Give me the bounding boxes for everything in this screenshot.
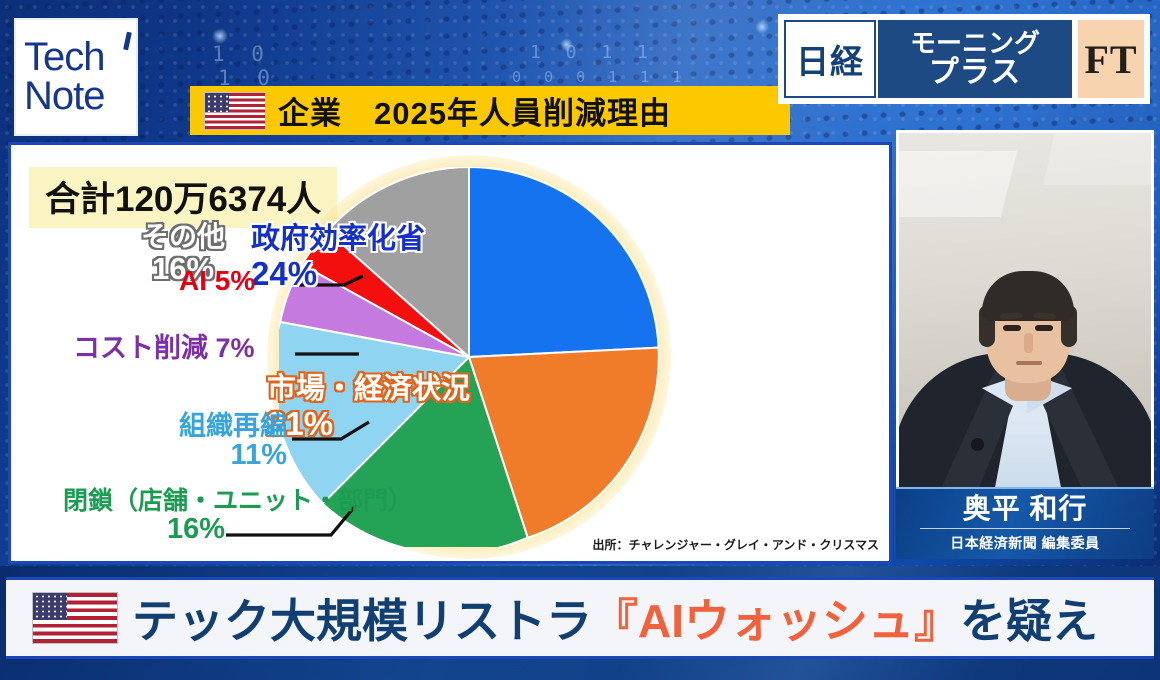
headline-title-bar: 企業 2025年人員削減理由 [190, 86, 790, 135]
us-flag-icon [32, 592, 118, 644]
pie-label-closure: 閉鎖（店舗・ユニット・部門） 16% [63, 489, 225, 545]
lapel-microphone-icon [971, 438, 984, 451]
banner-headline: テック大規模リストラ『AIウォッシュ』を疑え [132, 585, 1098, 651]
program-logo: Tech Note [14, 18, 138, 136]
pie-label-government-name: 政府効率化省 [251, 223, 425, 255]
pie-label-market-name: 市場・経済状況 [267, 373, 470, 405]
pie-label-ai: AI 5% [179, 267, 255, 296]
chart-source: 出所：チャレンジャー・グレイ・アンド・クリスマス [593, 536, 879, 553]
pie-label-government-pct: 24% [251, 257, 425, 291]
program-logo-line1: Tech [24, 38, 136, 77]
binary-decor: 0 0 0 1 1 1 [512, 68, 688, 86]
binary-decor: 1 0 1 1 [530, 42, 655, 63]
network-logo-block: 日経 モーニング プラス FT [778, 14, 1150, 104]
banner-text-highlight: 『AIウォッシュ』 [592, 595, 960, 647]
program-logo-text1: Tech [24, 35, 105, 79]
guest-video-inset [896, 130, 1154, 490]
page-title: 企業 2025年人員削減理由 [278, 88, 671, 133]
pie-label-closure-pct: 16% [63, 515, 225, 545]
binary-decor: 1 0 [212, 42, 271, 66]
pie-label-other-name: その他 [141, 221, 225, 252]
us-flag-icon [204, 92, 266, 130]
bottom-banner: テック大規模リストラ『AIウォッシュ』を疑え [6, 577, 1154, 659]
pie-label-market: 市場・経済状況 21% [267, 375, 470, 441]
nameplate-divider [920, 528, 1130, 529]
apostrophe-mark [123, 31, 132, 50]
pie-label-reorg: 組織再編 11% [97, 413, 287, 471]
nose [1024, 333, 1033, 353]
pie-label-cost: コスト削減 7% [73, 335, 255, 363]
hair [982, 271, 1074, 321]
eye-left [1003, 325, 1021, 331]
morning-plus-line1: モーニング [910, 30, 1040, 56]
banner-text-part2: を疑え [960, 595, 1098, 647]
nikkei-logo: 日経 [784, 20, 876, 98]
glow-dot [755, 20, 769, 34]
morning-plus-logo: モーニング プラス [878, 20, 1072, 98]
pie-label-reorg-name: 組織再編 [179, 411, 287, 441]
banner-text-part1: テック大規模リストラ [132, 595, 592, 647]
guest-photo [899, 133, 1151, 487]
mouth [1016, 361, 1042, 365]
pie-label-government: 政府効率化省 24% [251, 225, 425, 291]
guest-affiliation: 日本経済新聞 編集委員 [950, 533, 1099, 553]
guest-nameplate: 奥平 和行 日本経済新聞 編集委員 [896, 487, 1154, 559]
chart-panel: 合計120万6374人 [8, 142, 892, 564]
morning-plus-line2: プラス [929, 58, 1021, 88]
pie-label-reorg-pct: 11% [97, 441, 287, 471]
ft-logo: FT [1078, 20, 1144, 98]
guest-name: 奥平 和行 [963, 495, 1088, 523]
pie-slice-government[interactable] [469, 167, 659, 357]
program-logo-line2: Note [24, 77, 136, 116]
pie-label-market-pct: 21% [267, 407, 470, 441]
broadcast-graphic: 1 0 1 0 1 0 1 1 0 0 0 1 1 1 Tech Note 企業… [0, 0, 1160, 680]
eye-right [1035, 325, 1053, 331]
pie-label-closure-name: 閉鎖（店舗・ユニット・部門） [63, 487, 413, 515]
